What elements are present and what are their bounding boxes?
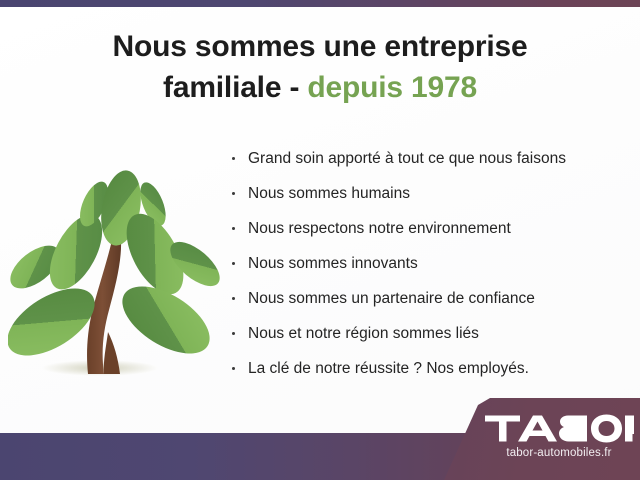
bullet-dot-icon [232, 297, 235, 300]
headline-line-2: familiale - depuis 1978 [0, 67, 640, 108]
list-item-label: Grand soin apporté à tout ce que nous fa… [248, 150, 566, 167]
list-item-label: Nous sommes humains [248, 185, 410, 202]
list-item-label: Nous respectons notre environnement [248, 220, 511, 237]
list-item-label: Nous sommes un partenaire de confiance [248, 290, 535, 307]
bullet-dot-icon [232, 227, 235, 230]
list-item-label: La clé de notre réussite ? Nos employés. [248, 360, 529, 377]
top-accent-bar [0, 0, 640, 7]
slide-canvas: Nous sommes une entreprise familiale - d… [0, 0, 640, 480]
list-item: Grand soin apporté à tout ce que nous fa… [230, 148, 630, 170]
bullet-dot-icon [232, 332, 235, 335]
headline-line-2-plain: familiale - [163, 71, 307, 104]
list-item: Nous sommes innovants [230, 253, 630, 275]
list-item-label: Nous sommes innovants [248, 255, 418, 272]
tabor-wordmark-icon [484, 412, 634, 445]
list-item: Nous sommes humains [230, 183, 630, 205]
list-item: La clé de notre réussite ? Nos employés. [230, 358, 630, 380]
tree-trunk-fork [104, 332, 120, 374]
benefits-list: Grand soin apporté à tout ce que nous fa… [230, 148, 630, 393]
page-title: Nous sommes une entreprise familiale - d… [0, 26, 640, 108]
bullet-dot-icon [232, 192, 235, 195]
brand-logo[interactable]: tabor-automobiles.fr [484, 412, 634, 459]
bullet-dot-icon [232, 367, 235, 370]
list-item: Nous et notre région sommes liés [230, 323, 630, 345]
list-item: Nous sommes un partenaire de confiance [230, 288, 630, 310]
headline-accent-text: depuis 1978 [307, 71, 477, 104]
bullet-dot-icon [232, 157, 235, 160]
headline-line-1: Nous sommes une entreprise [113, 30, 528, 63]
list-item: Nous respectons notre environnement [230, 218, 630, 240]
brand-website-label[interactable]: tabor-automobiles.fr [484, 447, 634, 459]
list-item-label: Nous et notre région sommes liés [248, 325, 479, 342]
bullet-dot-icon [232, 262, 235, 265]
tree-illustration [8, 142, 220, 390]
